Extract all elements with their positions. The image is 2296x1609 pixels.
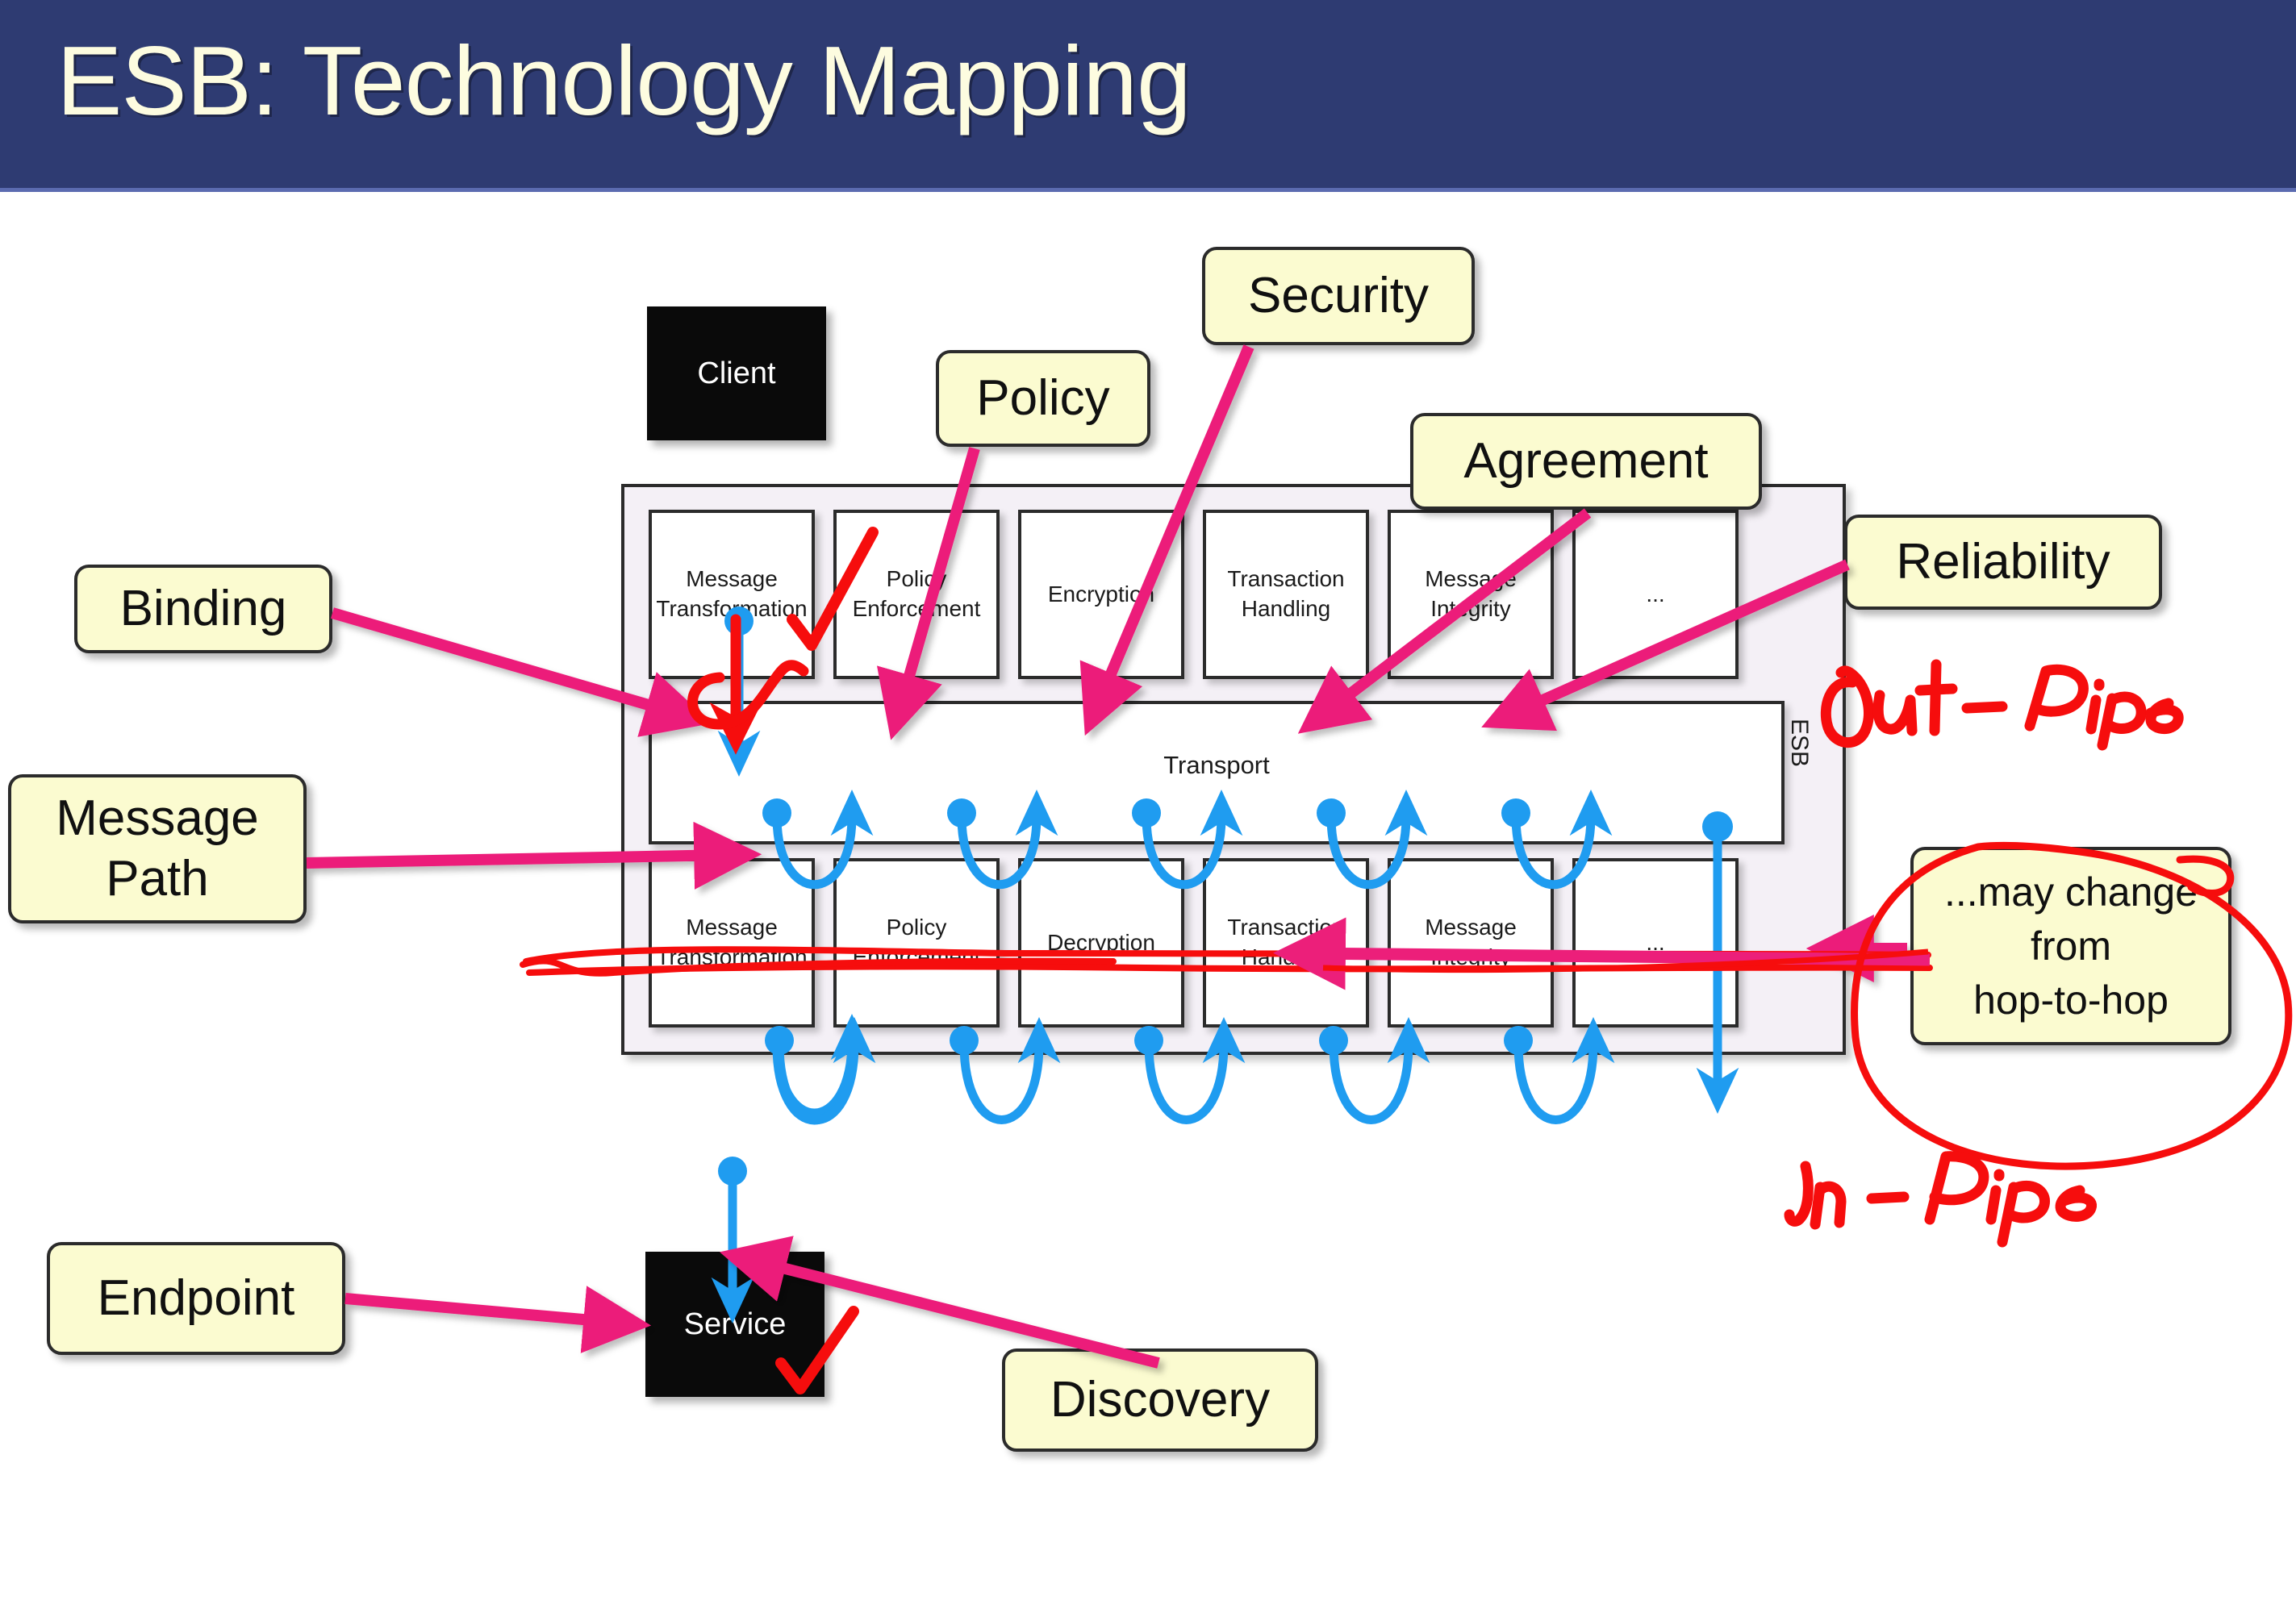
callout-agreement-label: Agreement bbox=[1463, 431, 1708, 491]
client-label: Client bbox=[697, 356, 775, 391]
stage-box-label: ... bbox=[1646, 580, 1664, 610]
stage-box-label: Message Transformation bbox=[656, 565, 807, 624]
callout-hop-line-3: hop-to-hop bbox=[1973, 973, 2169, 1028]
callout-binding-label: Binding bbox=[120, 579, 287, 639]
service-box[interactable]: Service bbox=[645, 1252, 824, 1397]
callout-hop-line-1: ...may change bbox=[1944, 865, 2198, 919]
callout-endpoint-label: Endpoint bbox=[98, 1269, 295, 1328]
callout-message-path-label: Message Path bbox=[56, 789, 259, 909]
transport-band: Transport bbox=[649, 701, 1785, 844]
title-bar: ESB: Technology Mapping bbox=[0, 0, 2296, 192]
stage-box-out-5[interactable]: ... bbox=[1572, 510, 1739, 679]
callout-policy-label: Policy bbox=[976, 369, 1109, 428]
service-label: Service bbox=[684, 1307, 787, 1342]
callout-hop-to-hop[interactable]: ...may change from hop-to-hop bbox=[1910, 847, 2231, 1045]
transport-label: Transport bbox=[652, 751, 1781, 780]
stage-box-in-5[interactable]: ... bbox=[1572, 858, 1739, 1028]
stage-box-out-4[interactable]: Message Integrity bbox=[1388, 510, 1554, 679]
callout-endpoint[interactable]: Endpoint bbox=[47, 1242, 345, 1355]
stage-box-in-1[interactable]: Policy Enforcement bbox=[833, 858, 1000, 1028]
stage-box-in-0[interactable]: Message Transformation bbox=[649, 858, 815, 1028]
stage-box-label: ... bbox=[1646, 928, 1664, 958]
stage-box-in-2[interactable]: Decryption bbox=[1018, 858, 1184, 1028]
callout-reliability[interactable]: Reliability bbox=[1844, 515, 2162, 610]
callout-reliability-label: Reliability bbox=[1896, 532, 2110, 592]
stage-box-label: Transaction Handling bbox=[1227, 913, 1344, 973]
stage-box-out-1[interactable]: Policy Enforcement bbox=[833, 510, 1000, 679]
callout-discovery-label: Discovery bbox=[1050, 1370, 1270, 1430]
stage-box-label: Decryption bbox=[1047, 928, 1155, 958]
stage-box-in-4[interactable]: Message Integrity bbox=[1388, 858, 1554, 1028]
stage-box-label: Policy Enforcement bbox=[853, 565, 981, 624]
callout-hop-line-2: from bbox=[2031, 919, 2111, 973]
stage-box-label: Transaction Handling bbox=[1227, 565, 1344, 624]
callout-discovery[interactable]: Discovery bbox=[1002, 1348, 1318, 1452]
client-box[interactable]: Client bbox=[647, 306, 826, 440]
callout-binding[interactable]: Binding bbox=[74, 565, 332, 653]
stage-box-label: Policy Enforcement bbox=[853, 913, 981, 973]
esb-label: ESB bbox=[1785, 694, 1813, 791]
stage-box-in-3[interactable]: Transaction Handling bbox=[1203, 858, 1369, 1028]
callout-security[interactable]: Security bbox=[1202, 247, 1475, 345]
callout-message-path[interactable]: Message Path bbox=[8, 774, 307, 923]
callout-security-label: Security bbox=[1248, 266, 1429, 326]
callout-policy[interactable]: Policy bbox=[936, 350, 1150, 447]
stage-box-label: Encryption bbox=[1048, 580, 1154, 610]
stage-box-label: Message Integrity bbox=[1425, 913, 1517, 973]
page-title: ESB: Technology Mapping bbox=[56, 24, 1191, 137]
stage-box-label: Message Transformation bbox=[656, 913, 807, 973]
esb-container: Message TransformationPolicy Enforcement… bbox=[621, 484, 1846, 1055]
out-pipe-row: Message TransformationPolicy Enforcement… bbox=[649, 510, 1778, 679]
stage-box-out-2[interactable]: Encryption bbox=[1018, 510, 1184, 679]
stage-box-out-3[interactable]: Transaction Handling bbox=[1203, 510, 1369, 679]
in-pipe-row: Message TransformationPolicy Enforcement… bbox=[649, 858, 1778, 1028]
callout-agreement[interactable]: Agreement bbox=[1410, 413, 1762, 510]
stage-box-out-0[interactable]: Message Transformation bbox=[649, 510, 815, 679]
stage-box-label: Message Integrity bbox=[1425, 565, 1517, 624]
